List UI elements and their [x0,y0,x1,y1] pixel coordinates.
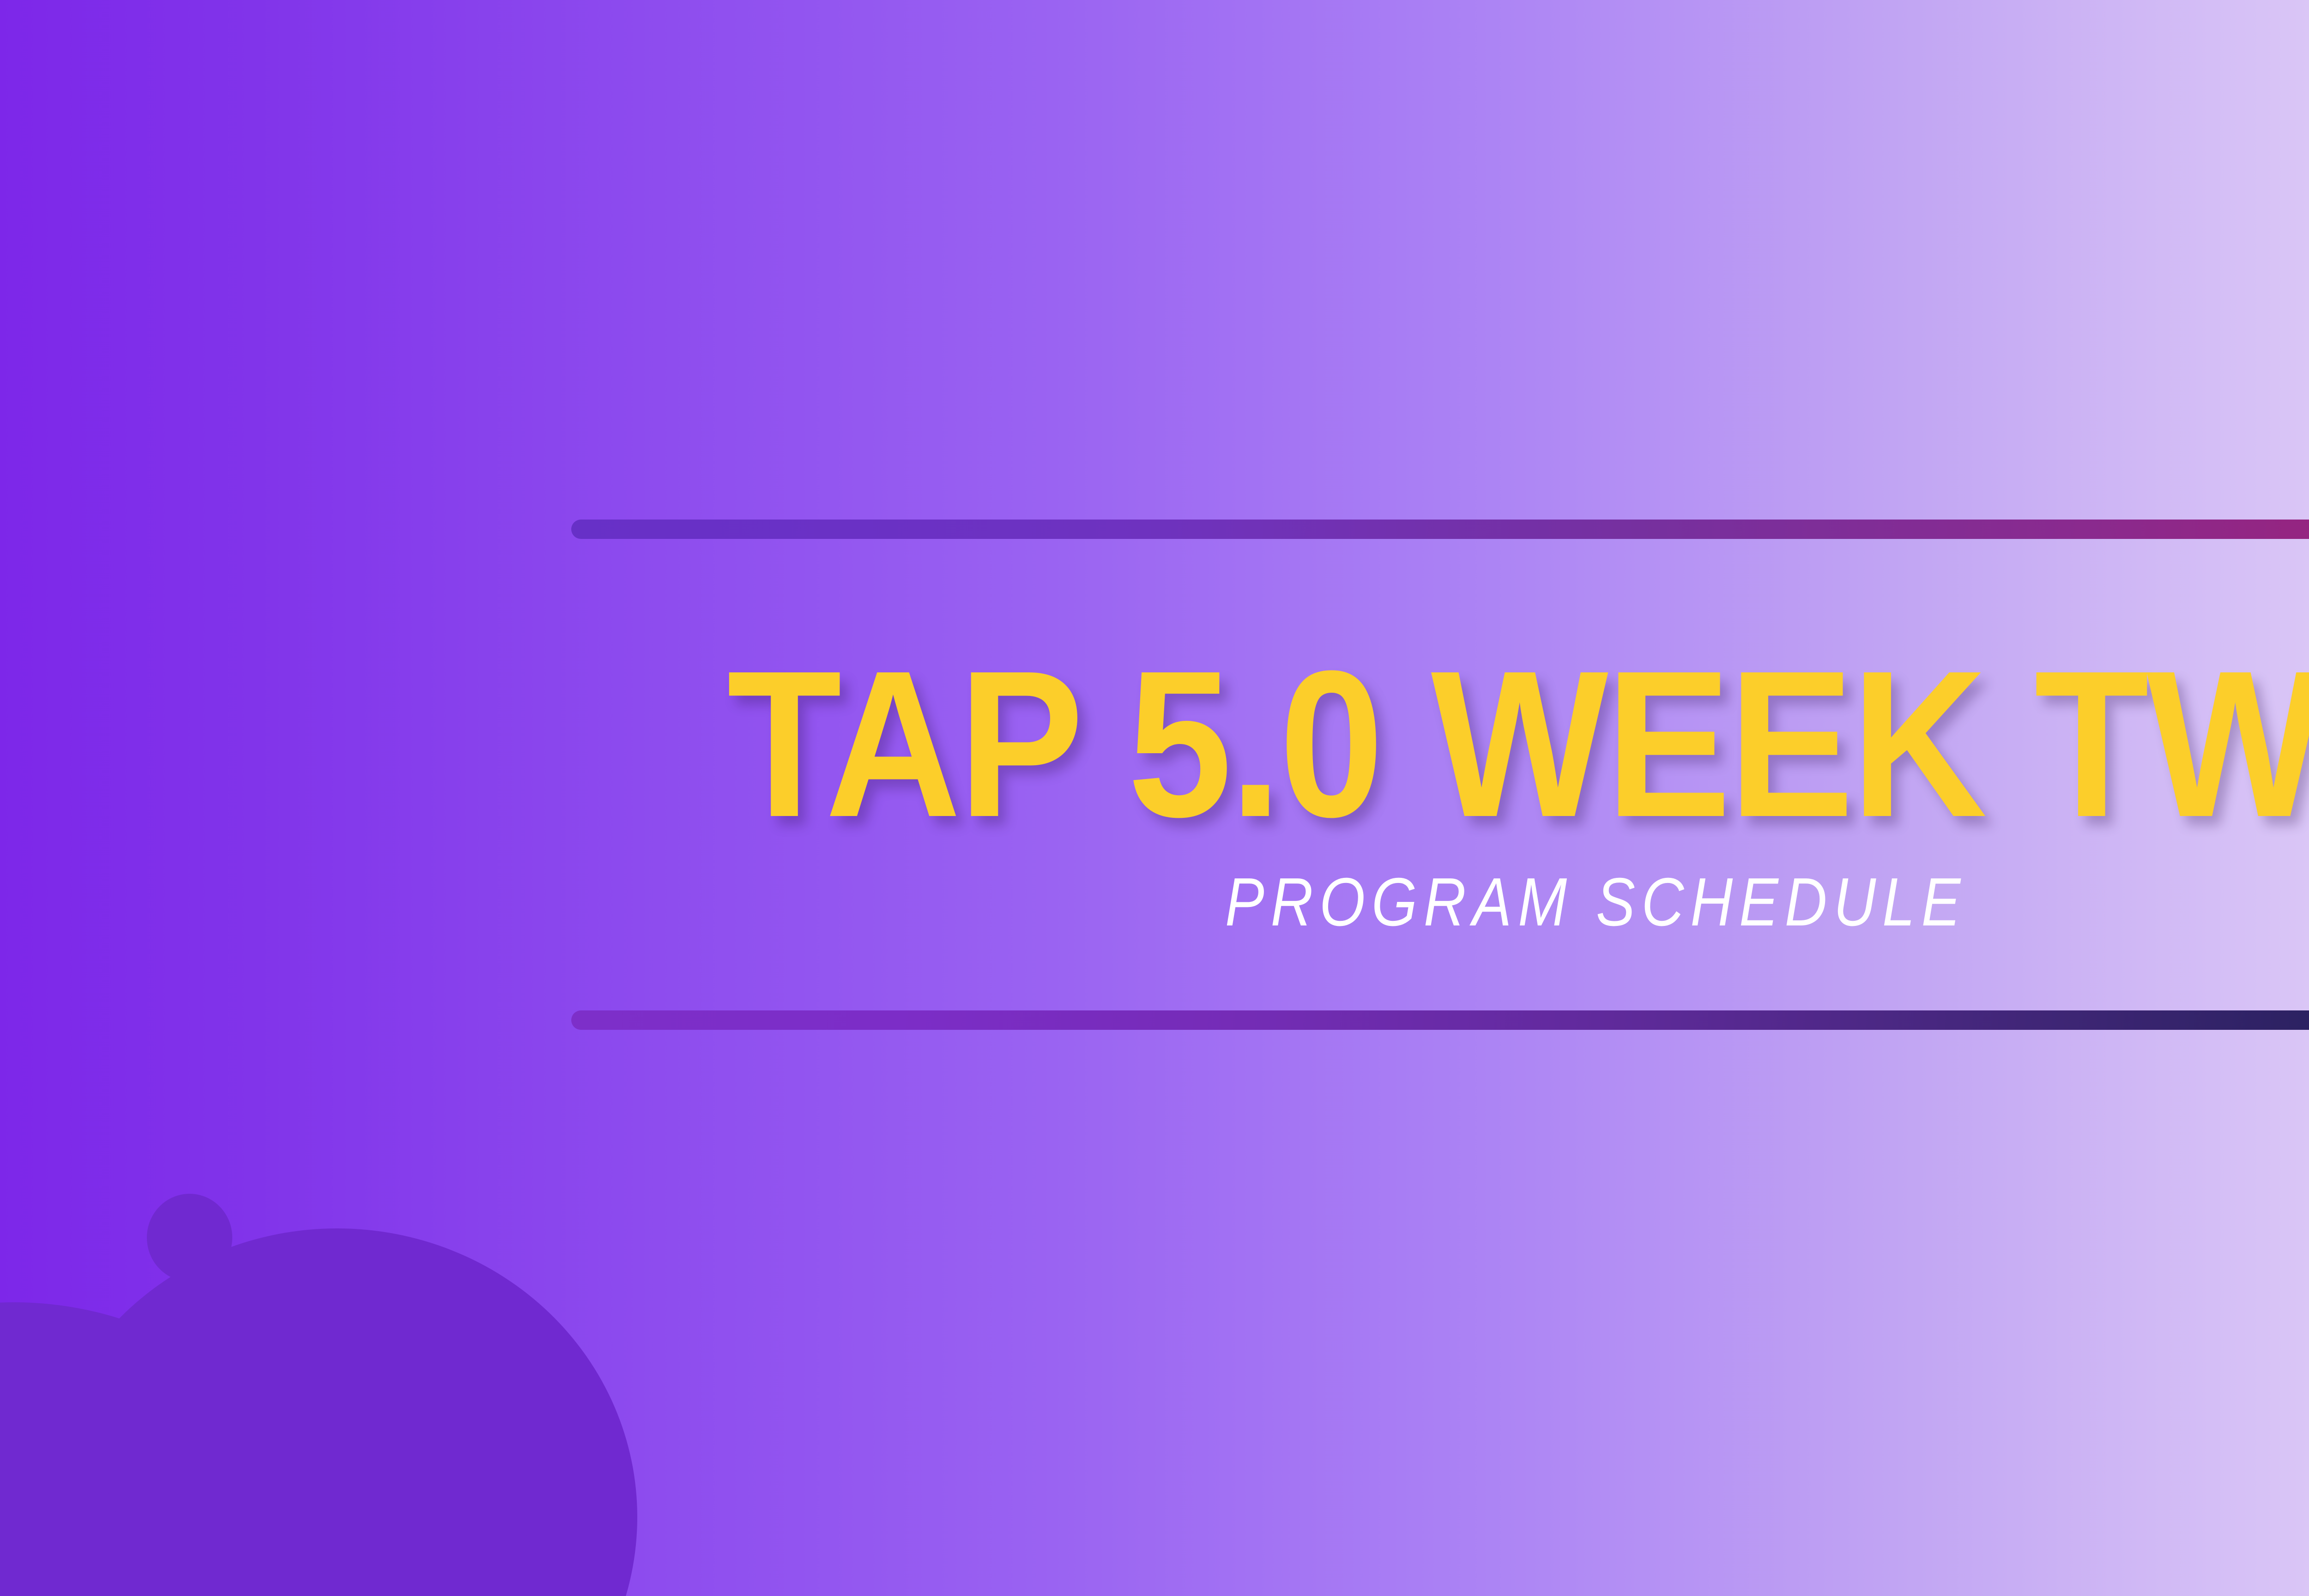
blob-lobe [37,1228,637,1596]
event-banner: TAP 5.0 WEEK TWO PROGRAM SCHEDULE [0,0,2309,1596]
blob-lobe [0,1358,129,1596]
bottom-left-purple-blob [0,1099,822,1596]
page-subtitle: PROGRAM SCHEDULE [715,826,2309,1010]
bottom-divider-rule [571,1010,2309,1030]
page-title: TAP 5.0 WEEK TWO [674,539,2309,826]
blob-accent-dot [147,1194,232,1282]
blob-lobe [0,1395,545,1596]
top-divider-rule [571,520,2309,539]
banner-content: TAP 5.0 WEEK TWO PROGRAM SCHEDULE [571,520,2309,1030]
blob-lobe [0,1302,314,1596]
